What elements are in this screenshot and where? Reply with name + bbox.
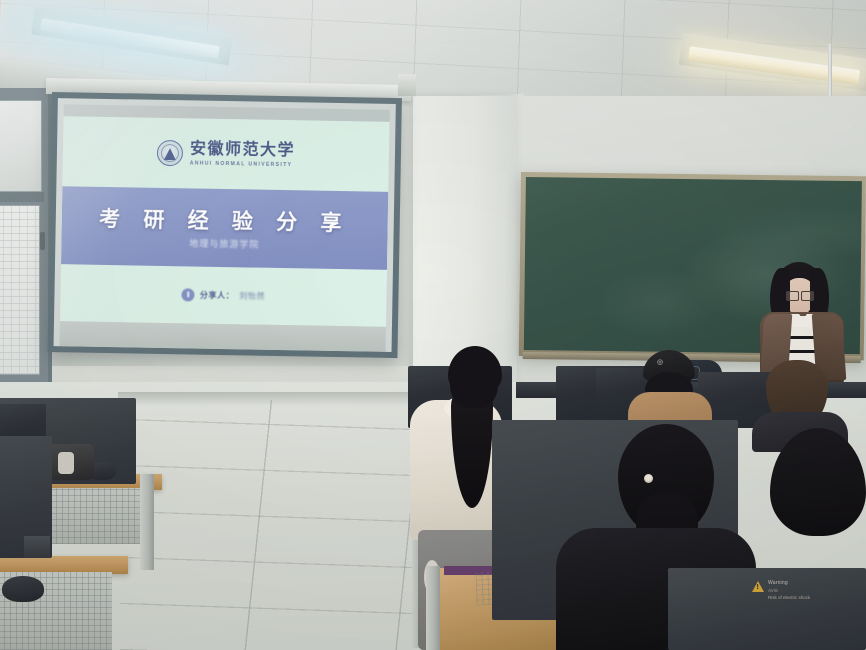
desk-object-cup bbox=[58, 452, 74, 474]
university-name-en: ANHUI NORMAL UNIVERSITY bbox=[190, 160, 293, 168]
window-pane-lower bbox=[0, 205, 40, 375]
projection-screen-surface: 安徽师范大学 ANHUI NORMAL UNIVERSITY 考 研 经 验 分… bbox=[54, 98, 396, 352]
presenter-label: 分享人： bbox=[200, 290, 235, 302]
warning-triangle-icon bbox=[752, 581, 764, 592]
mouse-left-front bbox=[2, 576, 44, 602]
slide-presenter-line: 分享人： 刘怡然 bbox=[60, 286, 386, 305]
monitor-warning-label: Warning AVIS Risk of electric shock bbox=[752, 580, 832, 614]
projection-screen: 安徽师范大学 ANHUI NORMAL UNIVERSITY 考 研 经 验 分… bbox=[47, 92, 401, 358]
window-mullion bbox=[0, 192, 44, 202]
university-name-cn: 安徽师范大学 bbox=[190, 141, 295, 159]
floor-wall-junction-shadow bbox=[118, 392, 418, 406]
warning-subheading: AVIS bbox=[768, 588, 810, 593]
presenter-name: 刘怡然 bbox=[239, 290, 265, 301]
screen-bottom-margin bbox=[60, 321, 386, 352]
warning-heading: Warning bbox=[768, 580, 810, 586]
presenter-glasses bbox=[786, 291, 814, 299]
projection-screen-end-cap bbox=[398, 74, 416, 96]
hair-scrunchie bbox=[644, 474, 653, 483]
window-pane-upper bbox=[0, 100, 42, 192]
student-hair-top bbox=[450, 362, 498, 408]
university-branding: 安徽师范大学 ANHUI NORMAL UNIVERSITY bbox=[63, 138, 389, 170]
window-latch bbox=[40, 232, 45, 250]
cap-logo-icon: ◎ bbox=[657, 358, 664, 366]
desk-leg bbox=[426, 566, 440, 650]
slide-title: 考 研 经 验 分 享 bbox=[62, 202, 388, 238]
wall-column bbox=[413, 96, 517, 384]
warning-text-block: Warning AVIS Risk of electric shock bbox=[768, 580, 810, 601]
classroom-photo: 安徽师范大学 ANHUI NORMAL UNIVERSITY 考 研 经 验 分… bbox=[0, 0, 866, 650]
desk-leg bbox=[140, 474, 154, 570]
monitor-stand bbox=[24, 536, 50, 558]
university-seal-icon bbox=[157, 140, 183, 166]
presentation-slide: 安徽师范大学 ANHUI NORMAL UNIVERSITY 考 研 经 验 分… bbox=[60, 116, 390, 327]
university-name-block: 安徽师范大学 ANHUI NORMAL UNIVERSITY bbox=[190, 141, 295, 168]
presenter-badge-icon bbox=[182, 288, 195, 301]
warning-body: Risk of electric shock bbox=[768, 595, 810, 601]
